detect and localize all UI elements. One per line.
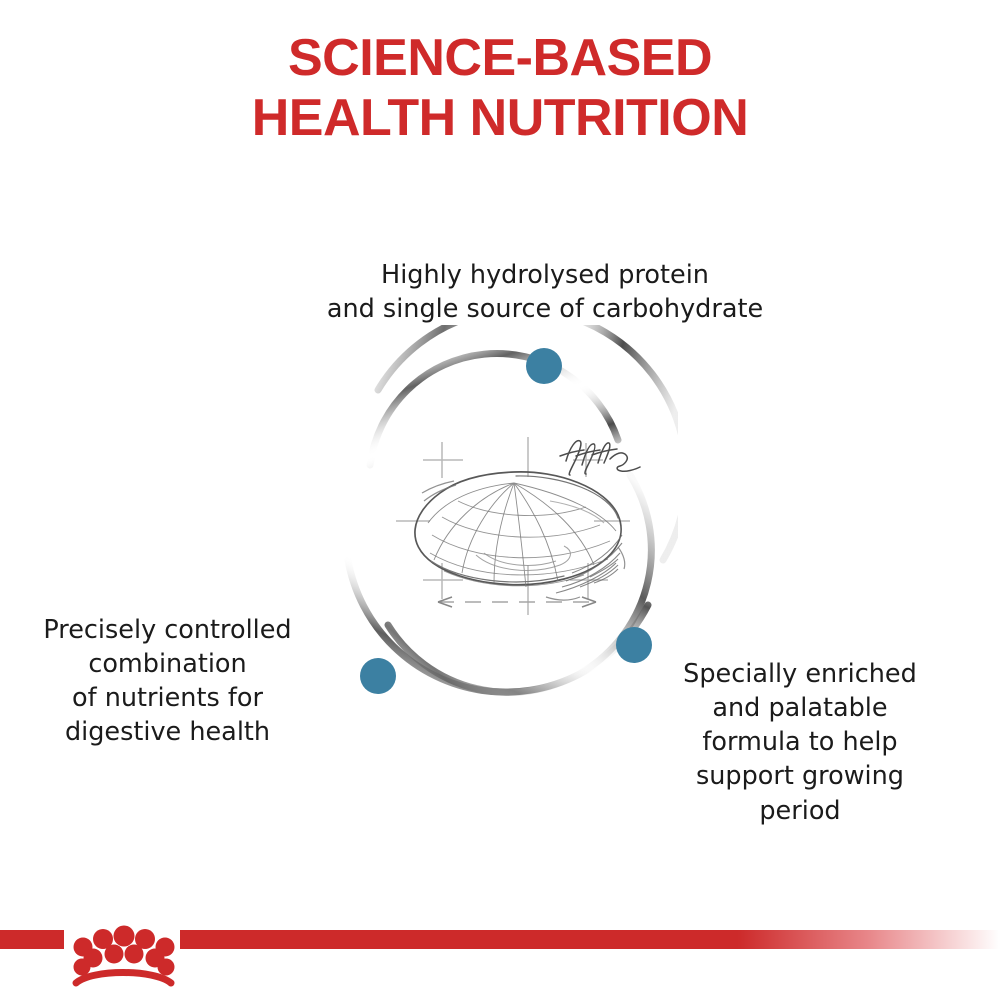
royal-canin-crown-logo	[62, 925, 184, 987]
page-title: SCIENCE-BASED HEALTH NUTRITION	[0, 28, 1000, 149]
kibble-inner-detail	[476, 501, 604, 570]
kibble-shading	[556, 535, 622, 593]
kibble-technical-sketch-graphic	[318, 325, 678, 705]
kibble-sketch	[396, 437, 640, 615]
brand-footer	[0, 925, 1000, 1000]
handwritten-annotation	[560, 441, 640, 475]
callout-text-top: Highly hydrolysed protein and single sou…	[250, 258, 840, 326]
registration-marks	[396, 437, 630, 615]
dimension-line	[438, 597, 596, 607]
callout-text-left: Precisely controlled combination of nutr…	[5, 613, 330, 750]
node-dot-top	[526, 348, 562, 384]
brand-bar-left	[0, 930, 64, 949]
poster-root: SCIENCE-BASED HEALTH NUTRITION Highly hy…	[0, 0, 1000, 1000]
node-dot-bottom-right	[616, 627, 652, 663]
brand-bar-right	[180, 930, 1000, 949]
page-title-line-2: HEALTH NUTRITION	[0, 88, 1000, 148]
inner-ring	[370, 354, 651, 693]
callout-text-right: Specially enriched and palatable formula…	[655, 657, 945, 828]
node-dot-bottom-left	[360, 658, 396, 694]
page-title-line-1: SCIENCE-BASED	[0, 28, 1000, 88]
